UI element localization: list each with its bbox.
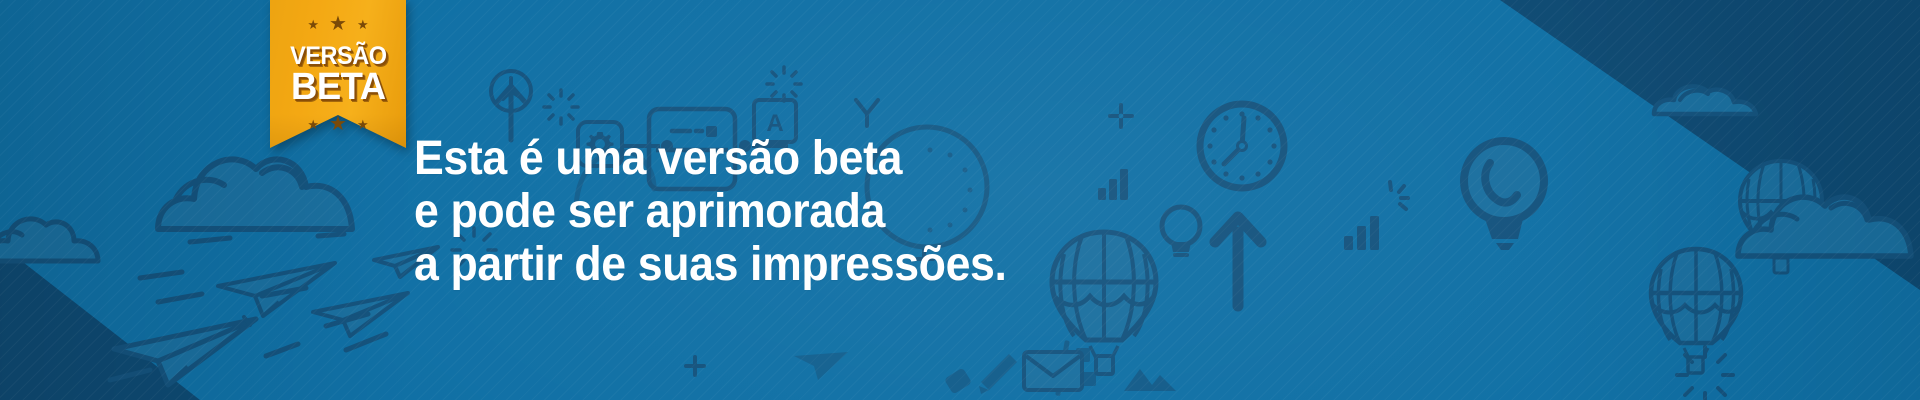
badge-text: VERSÃO BETA — [287, 43, 390, 106]
arrow-up-icon — [1212, 212, 1264, 308]
image-icon — [1120, 355, 1180, 395]
star-icon: ★ — [357, 18, 369, 31]
sparkle-icon — [766, 66, 802, 102]
bar-chart-icon — [1097, 166, 1131, 202]
plus-mark-icon — [1108, 103, 1134, 129]
sparkle-icon — [1378, 178, 1414, 214]
star-icon: ★ — [307, 18, 319, 31]
sparkle-icon — [542, 88, 580, 126]
clock-icon — [1196, 100, 1288, 192]
headline-line-1: Esta é uma versão beta — [414, 132, 1007, 185]
star-icon: ★ — [307, 118, 319, 131]
headline-line-3: a partir de suas impressões. — [414, 238, 1007, 291]
star-icon: ★ — [357, 118, 369, 131]
cloud-icon — [1733, 178, 1920, 268]
star-icon: ★ — [329, 14, 347, 34]
banner-headline: Esta é uma versão beta e pode ser aprimo… — [414, 132, 1007, 291]
letter-y-mark-icon — [852, 97, 882, 129]
badge-stars-top: ★ ★ ★ — [307, 14, 368, 34]
pencil-icon — [945, 348, 1023, 398]
motion-lines — [130, 230, 450, 390]
lightbulb-icon — [1158, 204, 1204, 262]
beta-version-badge: ★ ★ ★ VERSÃO BETA ★ ★ ★ — [270, 0, 406, 148]
lightbulb-icon — [1455, 135, 1553, 255]
beta-version-banner: A — [0, 0, 1920, 400]
envelope-icon — [1022, 348, 1084, 392]
plus-mark-icon — [684, 355, 706, 377]
sparkle-icon — [1675, 345, 1735, 400]
paper-plane-icon — [792, 350, 852, 382]
badge-line-2: BETA — [289, 68, 387, 106]
cloud-icon — [0, 195, 118, 275]
cloud-icon — [1650, 80, 1760, 120]
bar-chart-icon — [1342, 212, 1382, 252]
headline-line-2: e pode ser aprimorada — [414, 185, 1007, 238]
star-icon: ★ — [329, 114, 347, 134]
badge-stars-bottom: ★ ★ ★ — [307, 114, 368, 134]
